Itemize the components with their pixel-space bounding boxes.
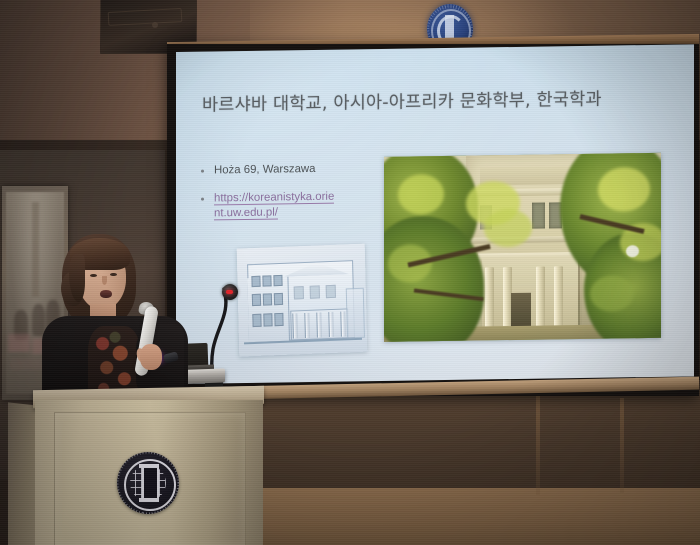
projected-slide: 바르샤바 대학교, 아시아-아프리카 문화학부, 한국학과 Hoża 69, W… [176, 44, 694, 384]
emblem-bar-top [139, 464, 158, 468]
wall-seam [620, 398, 624, 493]
lectern-side-panel [8, 402, 38, 545]
hair-side-strand [69, 254, 85, 302]
mouth [100, 290, 112, 298]
hufs-emblem-icon [117, 452, 179, 514]
emblem-bar-bottom [139, 498, 158, 502]
painting-detail [32, 202, 39, 297]
emblem-bar [142, 464, 159, 502]
painting-detail [8, 334, 30, 352]
slide-vignette [176, 44, 694, 384]
nose [102, 276, 107, 285]
wall-seam [536, 390, 540, 495]
presentation-scene: 바르샤바 대학교, 아시아-아프리카 문화학부, 한국학과 Hoża 69, W… [0, 0, 700, 545]
presenter [40, 228, 190, 400]
hand [140, 344, 162, 370]
speaker-detail [152, 22, 158, 28]
wall-lower-strip [195, 488, 700, 545]
microphone-led-indicator [226, 290, 233, 294]
